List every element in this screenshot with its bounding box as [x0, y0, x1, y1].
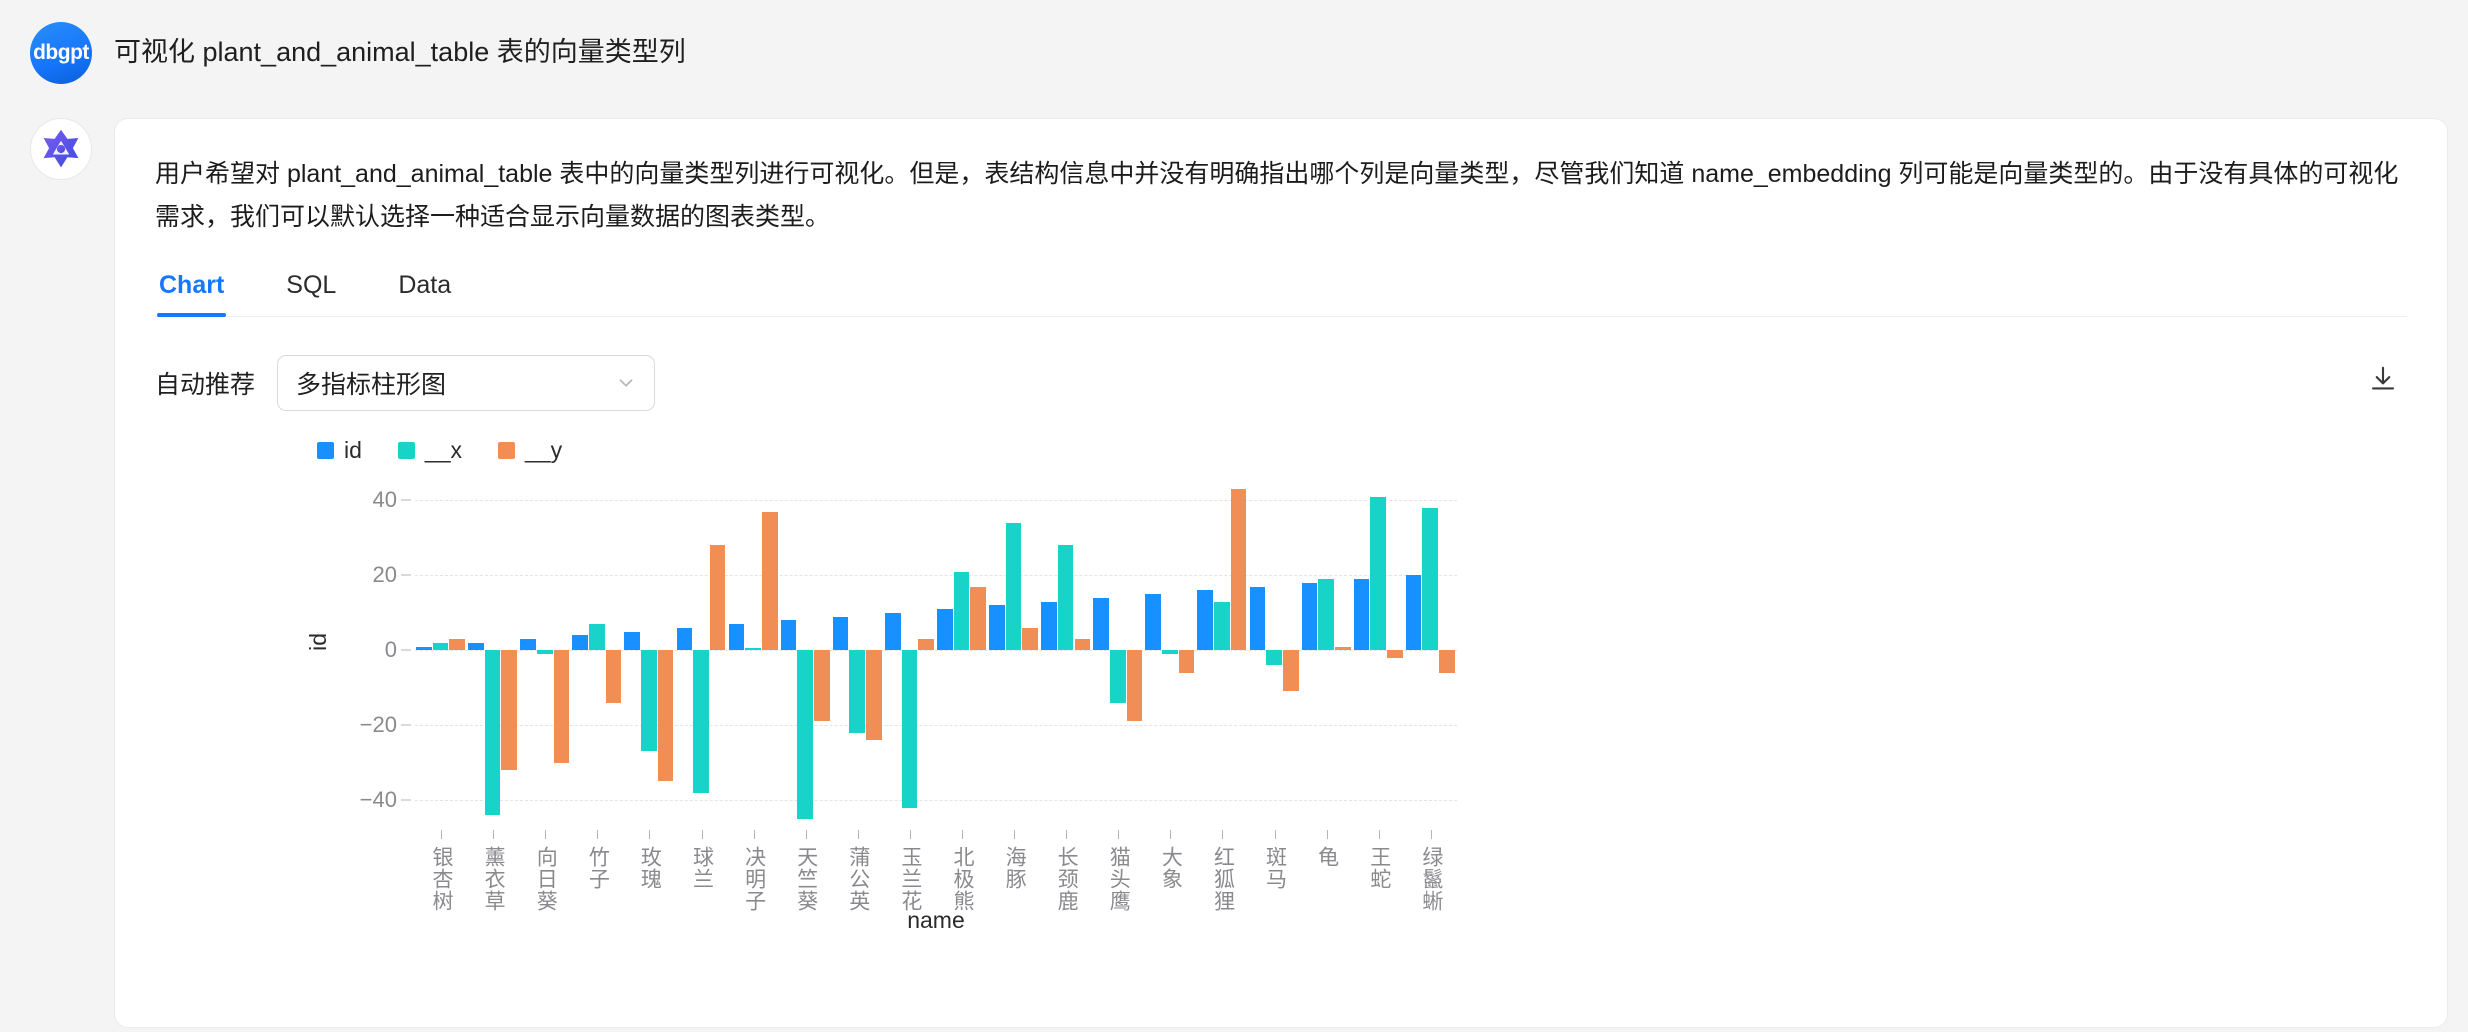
x-tick-label: 向日葵	[530, 846, 560, 912]
bar-id[interactable]	[1354, 579, 1370, 650]
bar-__x[interactable]	[641, 650, 657, 751]
legend-swatch-y	[498, 442, 515, 459]
conversation-header: dbgpt 可视化 plant_and_animal_table 表的向量类型列	[0, 0, 2468, 84]
bar-__y[interactable]	[658, 650, 674, 781]
x-tick-mark	[910, 830, 911, 839]
bar-id[interactable]	[1041, 602, 1057, 651]
download-icon	[2368, 364, 2398, 394]
bar-id[interactable]	[1302, 583, 1318, 650]
bar-group: 薰衣草	[467, 478, 519, 830]
legend-item-id[interactable]: id	[317, 437, 362, 464]
chevron-down-icon	[615, 372, 637, 394]
bar-group: 大象	[1144, 478, 1196, 830]
bar-__x[interactable]	[693, 650, 709, 792]
message-actions	[0, 1028, 2468, 1032]
y-tick-label: 20	[373, 562, 397, 588]
bar-id[interactable]	[416, 647, 432, 651]
legend-label-y: __y	[525, 437, 562, 464]
bar-group: 球兰	[675, 478, 727, 830]
x-tick-mark	[754, 830, 755, 839]
chart-controls: 自动推荐 多指标柱形图	[155, 355, 2407, 411]
x-tick-label: 球兰	[687, 846, 717, 890]
bar-group: 天竺葵	[780, 478, 832, 830]
bar-__x[interactable]	[902, 650, 918, 807]
x-tick-label: 薰衣草	[478, 846, 508, 912]
x-tick-label: 绿鬣蜥	[1416, 846, 1446, 912]
bar-__x[interactable]	[485, 650, 501, 815]
bar-group: 决明子	[728, 478, 780, 830]
bar-id[interactable]	[1406, 575, 1422, 650]
bar-id[interactable]	[677, 628, 693, 650]
x-tick-label: 北极熊	[947, 846, 977, 912]
bar-group: 玫瑰	[623, 478, 675, 830]
tab-data[interactable]: Data	[396, 265, 453, 316]
bar-__y[interactable]	[1335, 647, 1351, 651]
assistant-message: 用户希望对 plant_and_animal_table 表中的向量类型列进行可…	[0, 84, 2468, 1028]
bar-__y[interactable]	[1283, 650, 1299, 691]
bar-id[interactable]	[729, 624, 745, 650]
message-body: 用户希望对 plant_and_animal_table 表中的向量类型列进行可…	[155, 153, 2407, 239]
bar-id[interactable]	[520, 639, 536, 650]
x-tick-mark	[1431, 830, 1432, 839]
x-tick-mark	[441, 830, 442, 839]
bar-__y[interactable]	[762, 512, 778, 651]
x-tick-label: 大象	[1155, 846, 1185, 890]
bar-__y[interactable]	[449, 639, 465, 650]
legend-label-x: __x	[425, 437, 462, 464]
legend-item-x[interactable]: __x	[398, 437, 462, 464]
legend-swatch-id	[317, 442, 334, 459]
bar-id[interactable]	[781, 620, 797, 650]
y-tick-label: 40	[373, 487, 397, 513]
bar-__y[interactable]	[866, 650, 882, 740]
bar-group: 蒲公英	[832, 478, 884, 830]
bar-__y[interactable]	[1387, 650, 1403, 657]
x-tick-label: 红狐狸	[1207, 846, 1237, 912]
page-title: 可视化 plant_and_animal_table 表的向量类型列	[114, 35, 686, 70]
app-root: dbgpt 可视化 plant_and_animal_table 表的向量类型列…	[0, 0, 2468, 1032]
x-tick-mark	[493, 830, 494, 839]
bar-__y[interactable]	[1179, 650, 1195, 672]
bar-id[interactable]	[885, 613, 901, 650]
user-avatar: dbgpt	[30, 22, 92, 84]
legend-item-y[interactable]: __y	[498, 437, 562, 464]
x-tick-label: 玫瑰	[634, 846, 664, 890]
bar-__y[interactable]	[1075, 639, 1091, 650]
bar-group: 北极熊	[936, 478, 988, 830]
bar-__x[interactable]	[1422, 508, 1438, 650]
chart-type-value: 多指标柱形图	[296, 365, 446, 401]
bars-layer: 银杏树薰衣草向日葵竹子玫瑰球兰决明子天竺葵蒲公英玉兰花北极熊海豚长颈鹿猫头鹰大象…	[415, 478, 1457, 830]
x-tick-mark	[597, 830, 598, 839]
x-tick-mark	[858, 830, 859, 839]
bar-__y[interactable]	[606, 650, 622, 702]
chart-container: id __x __y 40200−20−40 银杏树薰衣草向日葵竹子玫瑰球兰决明…	[155, 437, 2389, 997]
x-tick-mark	[1222, 830, 1223, 839]
bar-__y[interactable]	[970, 587, 986, 651]
bar-__x[interactable]	[1110, 650, 1126, 702]
x-tick-label: 天竺葵	[791, 846, 821, 912]
bar-__y[interactable]	[501, 650, 517, 770]
bar-group: 绿鬣蜥	[1405, 478, 1457, 830]
assistant-avatar	[30, 118, 92, 180]
bar-group: 向日葵	[519, 478, 571, 830]
x-tick-label: 斑马	[1260, 846, 1290, 890]
x-tick-label: 蒲公英	[843, 846, 873, 912]
bar-id[interactable]	[1145, 594, 1161, 650]
x-tick-label: 竹子	[582, 846, 612, 890]
chart-type-label: 自动推荐	[155, 365, 255, 401]
bar-id[interactable]	[1197, 590, 1213, 650]
y-tick-label: −20	[360, 712, 397, 738]
bar-__x[interactable]	[1006, 523, 1022, 650]
chart-card: 用户希望对 plant_and_animal_table 表中的向量类型列进行可…	[114, 118, 2448, 1028]
bar-id[interactable]	[989, 605, 1005, 650]
plot-area: 40200−20−40 银杏树薰衣草向日葵竹子玫瑰球兰决明子天竺葵蒲公英玉兰花北…	[415, 478, 1457, 830]
bar-__y[interactable]	[1439, 650, 1455, 672]
tab-sql[interactable]: SQL	[284, 265, 338, 316]
bar-__x[interactable]	[1214, 602, 1230, 651]
bar-__y[interactable]	[918, 639, 934, 650]
x-tick-label: 王蛇	[1364, 846, 1394, 890]
bar-__x[interactable]	[745, 648, 761, 650]
bar-__y[interactable]	[814, 650, 830, 721]
bar-group: 竹子	[571, 478, 623, 830]
x-tick-label: 银杏树	[426, 846, 456, 912]
x-tick-label: 决明子	[739, 846, 769, 912]
bar-__y[interactable]	[1231, 489, 1247, 650]
x-tick-mark	[702, 830, 703, 839]
x-tick-mark	[649, 830, 650, 839]
bar-__y[interactable]	[710, 545, 726, 650]
y-tick-mark	[401, 725, 411, 726]
bar-group: 长颈鹿	[1040, 478, 1092, 830]
chart-legend: id __x __y	[155, 437, 2389, 464]
bar-group: 银杏树	[415, 478, 467, 830]
bar-id[interactable]	[937, 609, 953, 650]
y-tick-mark	[401, 500, 411, 501]
dbgpt-logo-icon	[39, 127, 83, 171]
tab-chart[interactable]: Chart	[157, 265, 226, 316]
y-tick-mark	[401, 800, 411, 801]
card-tabs: Chart SQL Data	[155, 265, 2407, 317]
x-tick-mark	[1170, 830, 1171, 839]
bar-group: 龟	[1301, 478, 1353, 830]
bar-__x[interactable]	[797, 650, 813, 819]
bar-group: 王蛇	[1353, 478, 1405, 830]
y-tick-label: 0	[385, 637, 397, 663]
bar-__x[interactable]	[1266, 650, 1282, 665]
x-tick-mark	[962, 830, 963, 839]
bar-__y[interactable]	[1127, 650, 1143, 721]
x-tick-mark	[1327, 830, 1328, 839]
bar-group: 玉兰花	[884, 478, 936, 830]
bar-id[interactable]	[1093, 598, 1109, 650]
bar-__x[interactable]	[954, 572, 970, 651]
x-tick-mark	[1066, 830, 1067, 839]
y-tick-mark	[401, 650, 411, 651]
bar-group: 海豚	[988, 478, 1040, 830]
x-tick-mark	[1014, 830, 1015, 839]
bar-__x[interactable]	[1162, 650, 1178, 654]
x-tick-label: 长颈鹿	[1051, 846, 1081, 912]
bar-__x[interactable]	[537, 650, 553, 654]
bar-id[interactable]	[833, 617, 849, 651]
x-tick-label: 玉兰花	[895, 846, 925, 912]
bar-group: 红狐狸	[1196, 478, 1248, 830]
bar-id[interactable]	[468, 643, 484, 650]
legend-label-id: id	[344, 437, 362, 464]
bar-__x[interactable]	[1370, 497, 1386, 651]
x-tick-mark	[1275, 830, 1276, 839]
bar-__y[interactable]	[1022, 628, 1038, 650]
y-tick-mark	[401, 575, 411, 576]
bar-id[interactable]	[624, 632, 640, 651]
x-tick-mark	[1118, 830, 1119, 839]
bar-__x[interactable]	[849, 650, 865, 732]
legend-swatch-x	[398, 442, 415, 459]
x-tick-mark	[545, 830, 546, 839]
bar-id[interactable]	[1250, 587, 1266, 651]
x-tick-label: 猫头鹰	[1103, 846, 1133, 912]
x-tick-mark	[1379, 830, 1380, 839]
y-tick-label: −40	[360, 787, 397, 813]
bar-__x[interactable]	[1318, 579, 1334, 650]
y-axis-title: id	[305, 633, 332, 651]
bar-__y[interactable]	[554, 650, 570, 762]
bar-group: 猫头鹰	[1092, 478, 1144, 830]
bar-group: 斑马	[1249, 478, 1301, 830]
bar-id[interactable]	[572, 635, 588, 650]
x-tick-label: 海豚	[999, 846, 1029, 890]
chart-type-select[interactable]: 多指标柱形图	[277, 355, 655, 411]
x-tick-label: 龟	[1312, 846, 1342, 868]
bar-__x[interactable]	[433, 643, 449, 650]
x-axis-title: name	[415, 907, 1457, 934]
bar-__x[interactable]	[1058, 545, 1074, 650]
bar-__x[interactable]	[589, 624, 605, 650]
download-button[interactable]	[2361, 357, 2405, 401]
x-tick-mark	[806, 830, 807, 839]
